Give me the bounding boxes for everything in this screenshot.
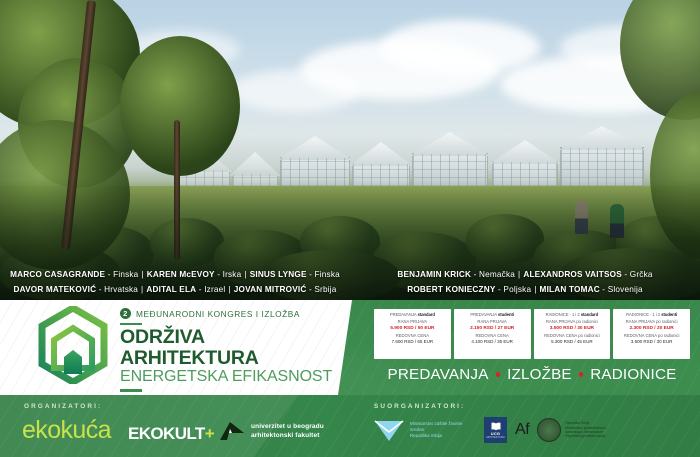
price-regular-value: 4.100 RSD / 35 EUR xyxy=(455,339,530,346)
price-box[interactable]: RADIONICE - 1 i 2 standard RANA PRIJAVA … xyxy=(534,309,611,359)
speakers-line: ROBERT KONIECZNY - Poljska|MILAN TOMAC -… xyxy=(350,282,700,297)
speaker-country: Poljska xyxy=(503,285,531,294)
price-early-value: 3.500 RSD / 30 EUR xyxy=(535,325,610,332)
price-category: RADIONICE - 1 i 2 standard xyxy=(535,312,610,319)
speakers-column-left: MARCO CASAGRANDE - Finska|KAREN McEVOY -… xyxy=(0,267,350,297)
speaker-name: ROBERT KONIECZNY xyxy=(407,285,495,294)
price-early-value: 2.300 RSD / 20 EUR xyxy=(614,325,689,332)
edition-number-badge: 2 xyxy=(120,308,131,319)
speakers-line: MARCO CASAGRANDE - Finska|KAREN McEVOY -… xyxy=(0,267,350,282)
rule-divider xyxy=(120,323,142,326)
speaker-country: Finska xyxy=(113,270,138,279)
tagline-item-workshops: RADIONICE xyxy=(590,366,676,383)
price-regular-label: REDOVNA CENA xyxy=(375,333,450,340)
separator: | xyxy=(138,270,146,279)
book-icon xyxy=(490,422,502,431)
speaker-name: MILAN TOMAC xyxy=(540,285,600,294)
bullet-dot-icon xyxy=(579,372,584,377)
speaker-country: Srbija xyxy=(314,285,336,294)
speaker-name: SINUS LYNGE xyxy=(250,270,307,279)
price-early-label: RANA PRIJAVA po radionici xyxy=(614,319,689,326)
separator: | xyxy=(241,270,249,279)
speaker-name: ADITAL ELA xyxy=(146,285,196,294)
arhitektonski-fakultet-logo[interactable]: univerzitet u beogradu arhitektonski fak… xyxy=(218,420,324,444)
speaker-country: Grčka xyxy=(630,270,653,279)
kicker-line: 2 MEĐUNARODNI KONGRES I IZLOŽBA xyxy=(120,308,345,319)
speaker-name: JOVAN MITROVIĆ xyxy=(234,285,307,294)
speakers-column-right: BENJAMIN KRICK - Nemačka|ALEXANDROS VAIT… xyxy=(350,267,700,297)
speakers-strip: MARCO CASAGRANDE - Finska|KAREN McEVOY -… xyxy=(0,263,700,300)
kicker-text: MEĐUNARODNI KONGRES I IZLOŽBA xyxy=(136,309,300,319)
speaker-name: KAREN McEVOY xyxy=(147,270,215,279)
title-line-2: ENERGETSKA EFIKASNOST xyxy=(120,368,345,386)
speaker-country: Irska xyxy=(223,270,242,279)
speaker-country: Hrvatska xyxy=(104,285,138,294)
price-early-label: RANA PRIJAVA xyxy=(375,319,450,326)
speaker-country: Finska xyxy=(315,270,340,279)
price-category: PREDAVANJA studenti xyxy=(455,312,530,319)
title-line-1: ODRŽIVA ARHITEKTURA xyxy=(120,327,345,368)
price-boxes: PREDAVANJA standard RANA PRIJAVA 5.900 R… xyxy=(374,309,690,359)
coorganizer-logos: Ministarstvo zaštite životne sredine Rep… xyxy=(372,416,637,444)
af-abbr-logo[interactable]: Af xyxy=(515,421,529,439)
tagline-item-lectures: PREDAVANJA xyxy=(388,366,489,383)
price-regular-value: 5.300 RSD / 45 EUR xyxy=(535,339,610,346)
price-category: PREDAVANJA standard xyxy=(375,312,450,319)
speaker-country: Slovenija xyxy=(608,285,643,294)
tagline-item-exhibitions: IZLOŽBE xyxy=(507,366,572,383)
speaker-name: MARCO CASAGRANDE xyxy=(10,270,105,279)
coorganizers-label: SUORGANIZATORI: xyxy=(374,403,465,410)
hero-photo xyxy=(0,0,700,300)
price-early-label: RANA PRIJAVA po radionici xyxy=(535,319,610,326)
ucg-sub: ARHITEKTURA xyxy=(486,436,505,439)
faculty-line-1: univerzitet u beogradu xyxy=(251,423,324,432)
rule-divider xyxy=(120,389,142,392)
ekokuca-wordmark[interactable]: ekokuća xyxy=(22,418,111,443)
price-regular-value: 7.600 RSD / 65 EUR xyxy=(375,339,450,346)
price-early-label: RANA PRIJAVA xyxy=(455,319,530,326)
speaker-country: Nemačka xyxy=(479,270,515,279)
poster-root: MARCO CASAGRANDE - Finska|KAREN McEVOY -… xyxy=(0,0,700,457)
bullet-dot-icon xyxy=(496,372,501,377)
price-category: RADIONICE - 1 i 2 studenti xyxy=(614,312,689,319)
official-seal-icon xyxy=(537,418,561,442)
geodetic-authority-logo[interactable]: Republika Srbija Ministarstvo građevinar… xyxy=(537,418,637,442)
organizers-label: ORGANIZATORI: xyxy=(24,403,102,410)
ucg-logo[interactable]: UCG ARHITEKTURA xyxy=(484,417,507,443)
price-regular-label: REDOVNA CENA xyxy=(455,333,530,340)
speaker-name: BENJAMIN KRICK xyxy=(397,270,471,279)
price-regular-label: REDOVNA CENA po radionici xyxy=(535,333,610,340)
ekokult-wordmark[interactable]: EKOKULT+ xyxy=(128,425,214,442)
faculty-line-2: arhitektonski fakultet xyxy=(251,432,324,441)
price-regular-value: 3.500 RSD / 30 EUR xyxy=(614,339,689,346)
envelope-leaf-icon xyxy=(372,416,406,444)
photo-vignette xyxy=(0,0,700,300)
price-early-value: 3.150 RSD / 27 EUR xyxy=(455,325,530,332)
ministry-environment-name: Ministarstvo zaštite životne sredine Rep… xyxy=(410,421,476,439)
geodetic-authority-name: Republika Srbija Ministarstvo građevinar… xyxy=(565,421,637,439)
price-regular-label: REDOVNA CENA po radionici xyxy=(614,333,689,340)
price-box[interactable]: PREDAVANJA studenti RANA PRIJAVA 3.150 R… xyxy=(454,309,531,359)
title-block: 2 MEĐUNARODNI KONGRES I IZLOŽBA ODRŽIVA … xyxy=(120,308,345,403)
speaker-name: DAVOR MATEKOVIĆ xyxy=(13,285,96,294)
speaker-name: ALEXANDROS VAITSOS xyxy=(523,270,622,279)
ekokuca-hex-house-logo xyxy=(38,306,108,384)
price-box[interactable]: RADIONICE - 1 i 2 studenti RANA PRIJAVA … xyxy=(613,309,690,359)
separator: | xyxy=(225,285,233,294)
speakers-line: BENJAMIN KRICK - Nemačka|ALEXANDROS VAIT… xyxy=(350,267,700,282)
ministry-environment-logo[interactable]: Ministarstvo zaštite životne sredine Rep… xyxy=(372,416,476,444)
speaker-country: Izrael xyxy=(204,285,225,294)
price-box[interactable]: PREDAVANJA standard RANA PRIJAVA 5.900 R… xyxy=(374,309,451,359)
program-tagline: PREDAVANJA IZLOŽBE RADIONICE xyxy=(374,366,690,383)
faculty-name: univerzitet u beogradu arhitektonski fak… xyxy=(251,423,324,440)
faculty-mark-icon xyxy=(218,420,246,444)
price-early-value: 5.900 RSD / 50 EUR xyxy=(375,325,450,332)
speakers-line: DAVOR MATEKOVIĆ - Hrvatska|ADITAL ELA - … xyxy=(0,282,350,297)
separator: | xyxy=(531,285,539,294)
